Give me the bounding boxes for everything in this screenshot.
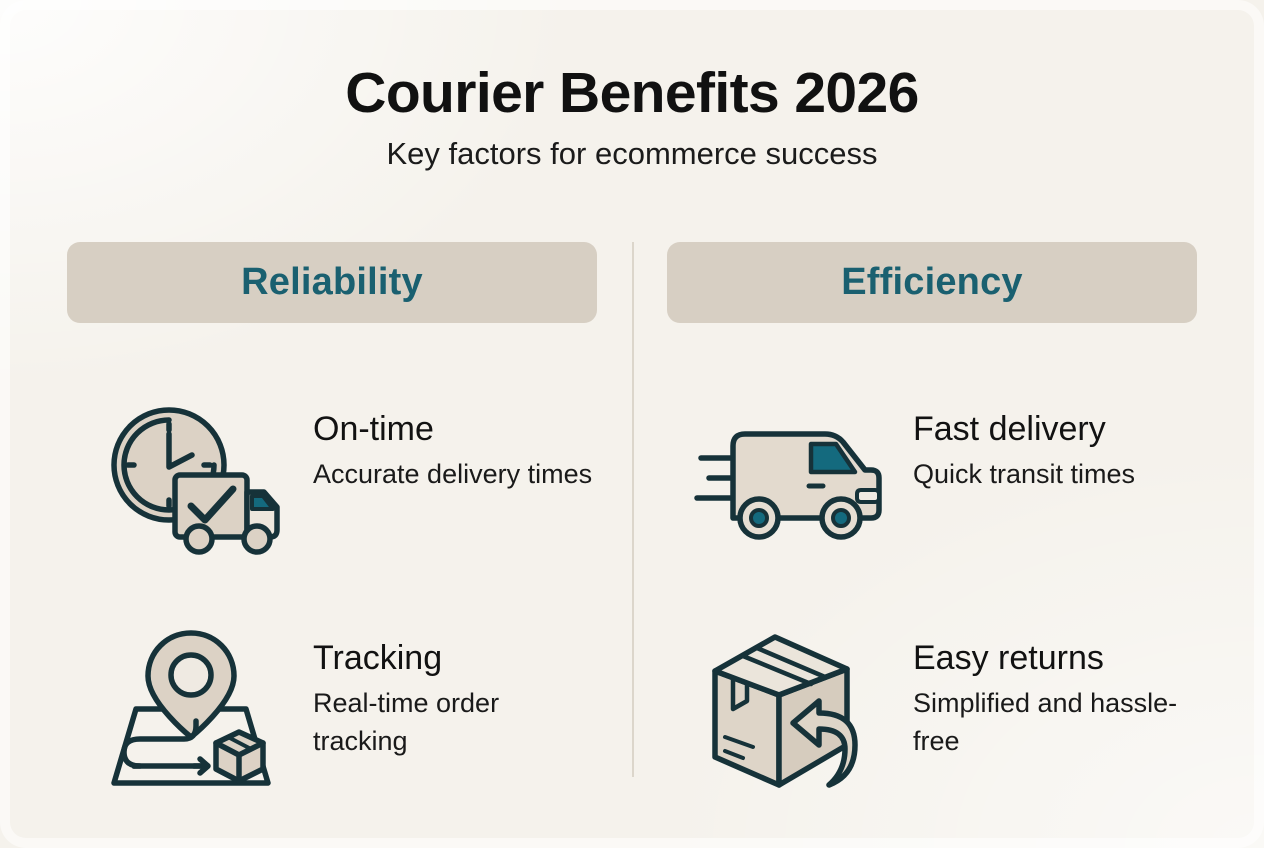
- benefit-title: Fast delivery: [913, 410, 1135, 448]
- benefit-text-tracking: Tracking Real-time order tracking: [313, 625, 597, 761]
- column-header-efficiency: Efficiency: [667, 242, 1197, 323]
- speeding-van-icon: [691, 396, 891, 564]
- title-block: Courier Benefits 2026 Key factors for ec…: [0, 63, 1264, 172]
- page-title: Courier Benefits 2026: [0, 63, 1264, 123]
- benefit-title: Easy returns: [913, 639, 1197, 677]
- clock-truck-check-icon: [91, 396, 291, 564]
- column-divider: [632, 242, 634, 777]
- benefit-item-easy-returns: Easy returns Simplified and hassle-free: [691, 625, 1197, 793]
- benefit-description: Simplified and hassle-free: [913, 684, 1197, 761]
- column-header-reliability: Reliability: [67, 242, 597, 323]
- benefit-title: Tracking: [313, 639, 597, 677]
- map-pin-route-package-icon: [91, 625, 291, 793]
- benefit-description: Accurate delivery times: [313, 455, 592, 493]
- benefit-item-tracking: Tracking Real-time order tracking: [91, 625, 597, 793]
- column-reliability: Reliability: [67, 242, 597, 793]
- benefit-title: On-time: [313, 410, 592, 448]
- page-subtitle: Key factors for ecommerce success: [0, 137, 1264, 171]
- box-return-arrow-icon: [691, 625, 891, 793]
- benefit-text-fast-delivery: Fast delivery Quick transit times: [913, 396, 1135, 493]
- benefit-text-on-time: On-time Accurate delivery times: [313, 396, 592, 493]
- benefit-item-fast-delivery: Fast delivery Quick transit times: [691, 396, 1197, 564]
- benefit-description: Real-time order tracking: [313, 684, 597, 761]
- column-header-label: Efficiency: [841, 261, 1023, 304]
- column-efficiency: Efficiency: [667, 242, 1197, 793]
- benefit-text-easy-returns: Easy returns Simplified and hassle-free: [913, 625, 1197, 761]
- benefit-item-on-time: On-time Accurate delivery times: [91, 396, 597, 564]
- column-header-label: Reliability: [241, 261, 423, 304]
- infographic-canvas: Courier Benefits 2026 Key factors for ec…: [0, 0, 1264, 848]
- benefit-description: Quick transit times: [913, 455, 1135, 493]
